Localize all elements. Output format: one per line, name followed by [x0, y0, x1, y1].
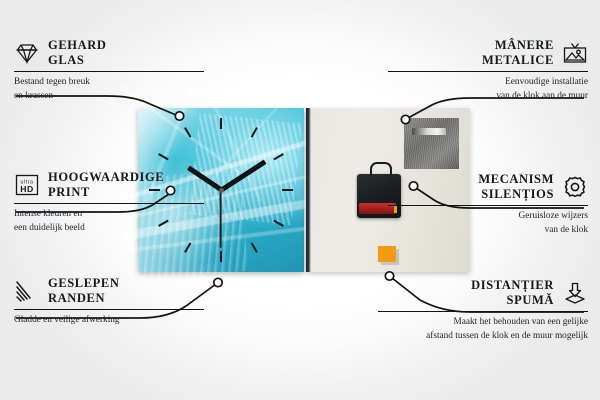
- divider: [14, 309, 204, 311]
- feature-desc-line2: van de klok aan de muur: [496, 91, 588, 101]
- bevelled-edge-icon: [14, 279, 40, 303]
- feature-description: Bestand tegen breuk en krassen: [14, 76, 204, 103]
- feature-desc-line1: Eenvoudige installatie: [505, 77, 588, 87]
- hour-tick: [251, 127, 258, 138]
- spacer-arrow-icon: [562, 281, 588, 305]
- feature-title: DISTANȚIER SPUMĂ: [471, 278, 554, 308]
- divider: [378, 311, 588, 313]
- feature-desc-line1: Maakt het behouden van een gelijke: [454, 317, 589, 327]
- feature-title-line1: MECANISM: [478, 172, 554, 186]
- gear-icon: [562, 175, 588, 199]
- feature-title-line1: GEHARD: [48, 38, 106, 52]
- feature-title: HOOGWAARDIGE PRINT: [48, 170, 164, 200]
- feature-desc-line1: Gladde en veilige afwerking: [14, 315, 120, 325]
- feature-title-line2: SILENȚIOS: [481, 187, 554, 201]
- svg-text:HD: HD: [20, 184, 34, 194]
- feature-desc-line2: en krassen: [14, 91, 53, 101]
- feature-description: Maakt het behouden van een gelijke afsta…: [378, 316, 588, 343]
- feature-desc-line1: Geruisloze wijzers: [519, 211, 588, 221]
- feature-title: MÂNERE METALICE: [482, 38, 554, 68]
- feature-desc-line2: afstand tussen de klok en de muur mogeli…: [426, 331, 588, 341]
- hanger-slot: [412, 128, 446, 135]
- hour-tick: [158, 153, 169, 160]
- feature-title-line2: SPUMĂ: [507, 293, 554, 307]
- feature-description: Intense kleuren en een duidelijk beeld: [14, 208, 204, 235]
- feature-geslepen-randen: GESLEPEN RANDEN Gladde en veilige afwerk…: [14, 276, 204, 328]
- divider: [14, 203, 204, 205]
- diamond-icon: [14, 41, 40, 65]
- panel-edge: [306, 108, 311, 272]
- feature-desc-line2: van de klok: [545, 225, 588, 235]
- divider: [388, 71, 588, 73]
- feature-mecanism-silentios: MECANISM SILENȚIOS Geruisloze wijzers va…: [388, 172, 588, 237]
- feature-description: Gladde en veilige afwerking: [14, 314, 204, 327]
- connector-dot-randen: [214, 278, 222, 286]
- feature-title: MECANISM SILENȚIOS: [478, 172, 554, 202]
- feature-title: GEHARD GLAS: [48, 38, 106, 68]
- feature-desc-line2: een duidelijk beeld: [14, 223, 85, 233]
- feature-title: GESLEPEN RANDEN: [48, 276, 120, 306]
- feature-title-line1: DISTANȚIER: [471, 278, 554, 292]
- ultra-hd-icon: ultra HD: [14, 173, 40, 197]
- feature-desc-line1: Bestand tegen breuk: [14, 77, 90, 87]
- divider: [388, 205, 588, 207]
- hour-tick: [282, 189, 293, 191]
- feature-description: Geruisloze wijzers van de klok: [388, 210, 588, 237]
- feature-title-line1: HOOGWAARDIGE: [48, 170, 164, 184]
- feature-title-line1: GESLEPEN: [48, 276, 120, 290]
- hour-tick: [273, 153, 284, 160]
- hour-tick: [220, 118, 222, 129]
- feature-manere-metalice: MÂNERE METALICE Eenvoudige installatie v…: [388, 38, 588, 103]
- feature-hoogwaardige-print: ultra HD HOOGWAARDIGE PRINT Intense kleu…: [14, 170, 204, 235]
- hour-tick: [184, 242, 191, 253]
- clock-minute-hand: [220, 160, 266, 193]
- clock-second-hand: [220, 190, 222, 248]
- feature-title-line2: PRINT: [48, 185, 90, 199]
- feature-distantier-spuma: DISTANȚIER SPUMĂ Maakt het behouden van …: [378, 278, 588, 343]
- hour-tick: [184, 127, 191, 138]
- product-infographic: GEHARD GLAS Bestand tegen breuk en krass…: [0, 0, 600, 400]
- clock-center-cap: [219, 188, 224, 193]
- hour-tick: [220, 251, 222, 262]
- divider: [14, 71, 204, 73]
- feature-gehard-glas: GEHARD GLAS Bestand tegen breuk en krass…: [14, 38, 204, 103]
- metal-hanger-plate: [404, 118, 458, 169]
- feature-title-line2: GLAS: [48, 53, 84, 67]
- feature-title-line1: MÂNERE: [495, 38, 554, 52]
- feature-title-line2: RANDEN: [48, 291, 105, 305]
- hour-tick: [251, 242, 258, 253]
- foam-spacer: [378, 246, 396, 262]
- feature-desc-line1: Intense kleuren en: [14, 209, 82, 219]
- picture-frame-icon: [562, 41, 588, 65]
- feature-description: Eenvoudige installatie van de klok aan d…: [388, 76, 588, 103]
- feature-title-line2: METALICE: [482, 53, 554, 67]
- hour-tick: [273, 220, 284, 227]
